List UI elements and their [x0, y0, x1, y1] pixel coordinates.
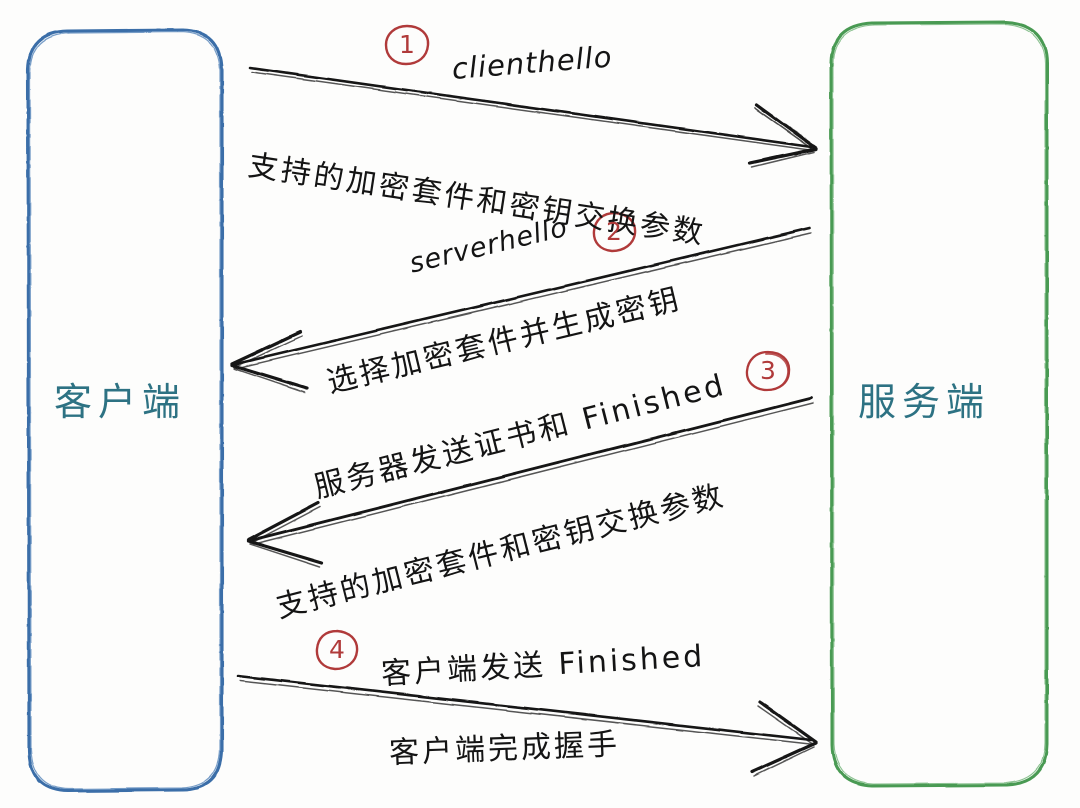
step-number: 3 [760, 358, 776, 383]
step-number: 1 [399, 32, 415, 57]
message-4-secondary-label: 客户端完成握手 [388, 719, 621, 772]
diagram-canvas: 客户端 服务端 1 2 3 4 clienthello 支持的加密套件和密钥交换… [0, 0, 1080, 808]
lane-label-server: 服务端 [858, 371, 990, 426]
step-number: 4 [329, 637, 345, 662]
step-badge-3: 3 [745, 350, 791, 392]
step-number: 2 [606, 219, 622, 244]
step-badge-4: 4 [314, 629, 360, 671]
step-badge-1: 1 [384, 24, 430, 66]
lane-label-client: 客户端 [54, 371, 186, 426]
